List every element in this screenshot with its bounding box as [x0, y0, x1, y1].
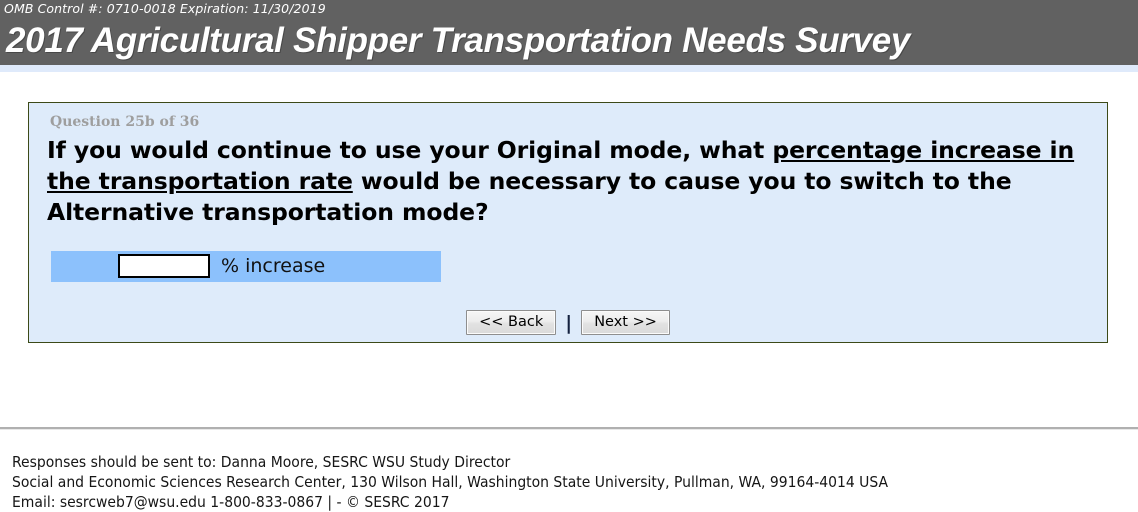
- question-text: If you would continue to use your Origin…: [47, 135, 1092, 228]
- percent-increase-input[interactable]: [118, 254, 210, 278]
- header-accent-strip: [0, 65, 1138, 72]
- answer-row: % increase: [51, 251, 441, 282]
- back-button[interactable]: << Back: [466, 310, 556, 335]
- question-counter: Question 25b of 36: [50, 114, 199, 130]
- question-panel: Question 25b of 36 If you would continue…: [28, 102, 1108, 343]
- omb-control-notice: OMB Control #: 0710-0018 Expiration: 11/…: [4, 1, 326, 16]
- question-text-part1: If you would continue to use your Origin…: [47, 136, 772, 164]
- button-separator: |: [565, 310, 572, 336]
- page-header: OMB Control #: 0710-0018 Expiration: 11/…: [0, 0, 1138, 65]
- navigation-row: << Back | Next >>: [29, 310, 1107, 342]
- percent-increase-unit-label: % increase: [221, 255, 325, 277]
- footer-divider: [0, 427, 1138, 430]
- footer-line-contact: Responses should be sent to: Danna Moore…: [12, 452, 1132, 472]
- footer-line-email-copyright: Email: sesrcweb7@wsu.edu 1-800-833-0867 …: [12, 492, 1132, 512]
- footer-line-address: Social and Economic Sciences Research Ce…: [12, 472, 1132, 492]
- footer: Responses should be sent to: Danna Moore…: [12, 452, 1132, 512]
- next-button[interactable]: Next >>: [581, 310, 670, 335]
- page-title: 2017 Agricultural Shipper Transportation…: [6, 20, 910, 62]
